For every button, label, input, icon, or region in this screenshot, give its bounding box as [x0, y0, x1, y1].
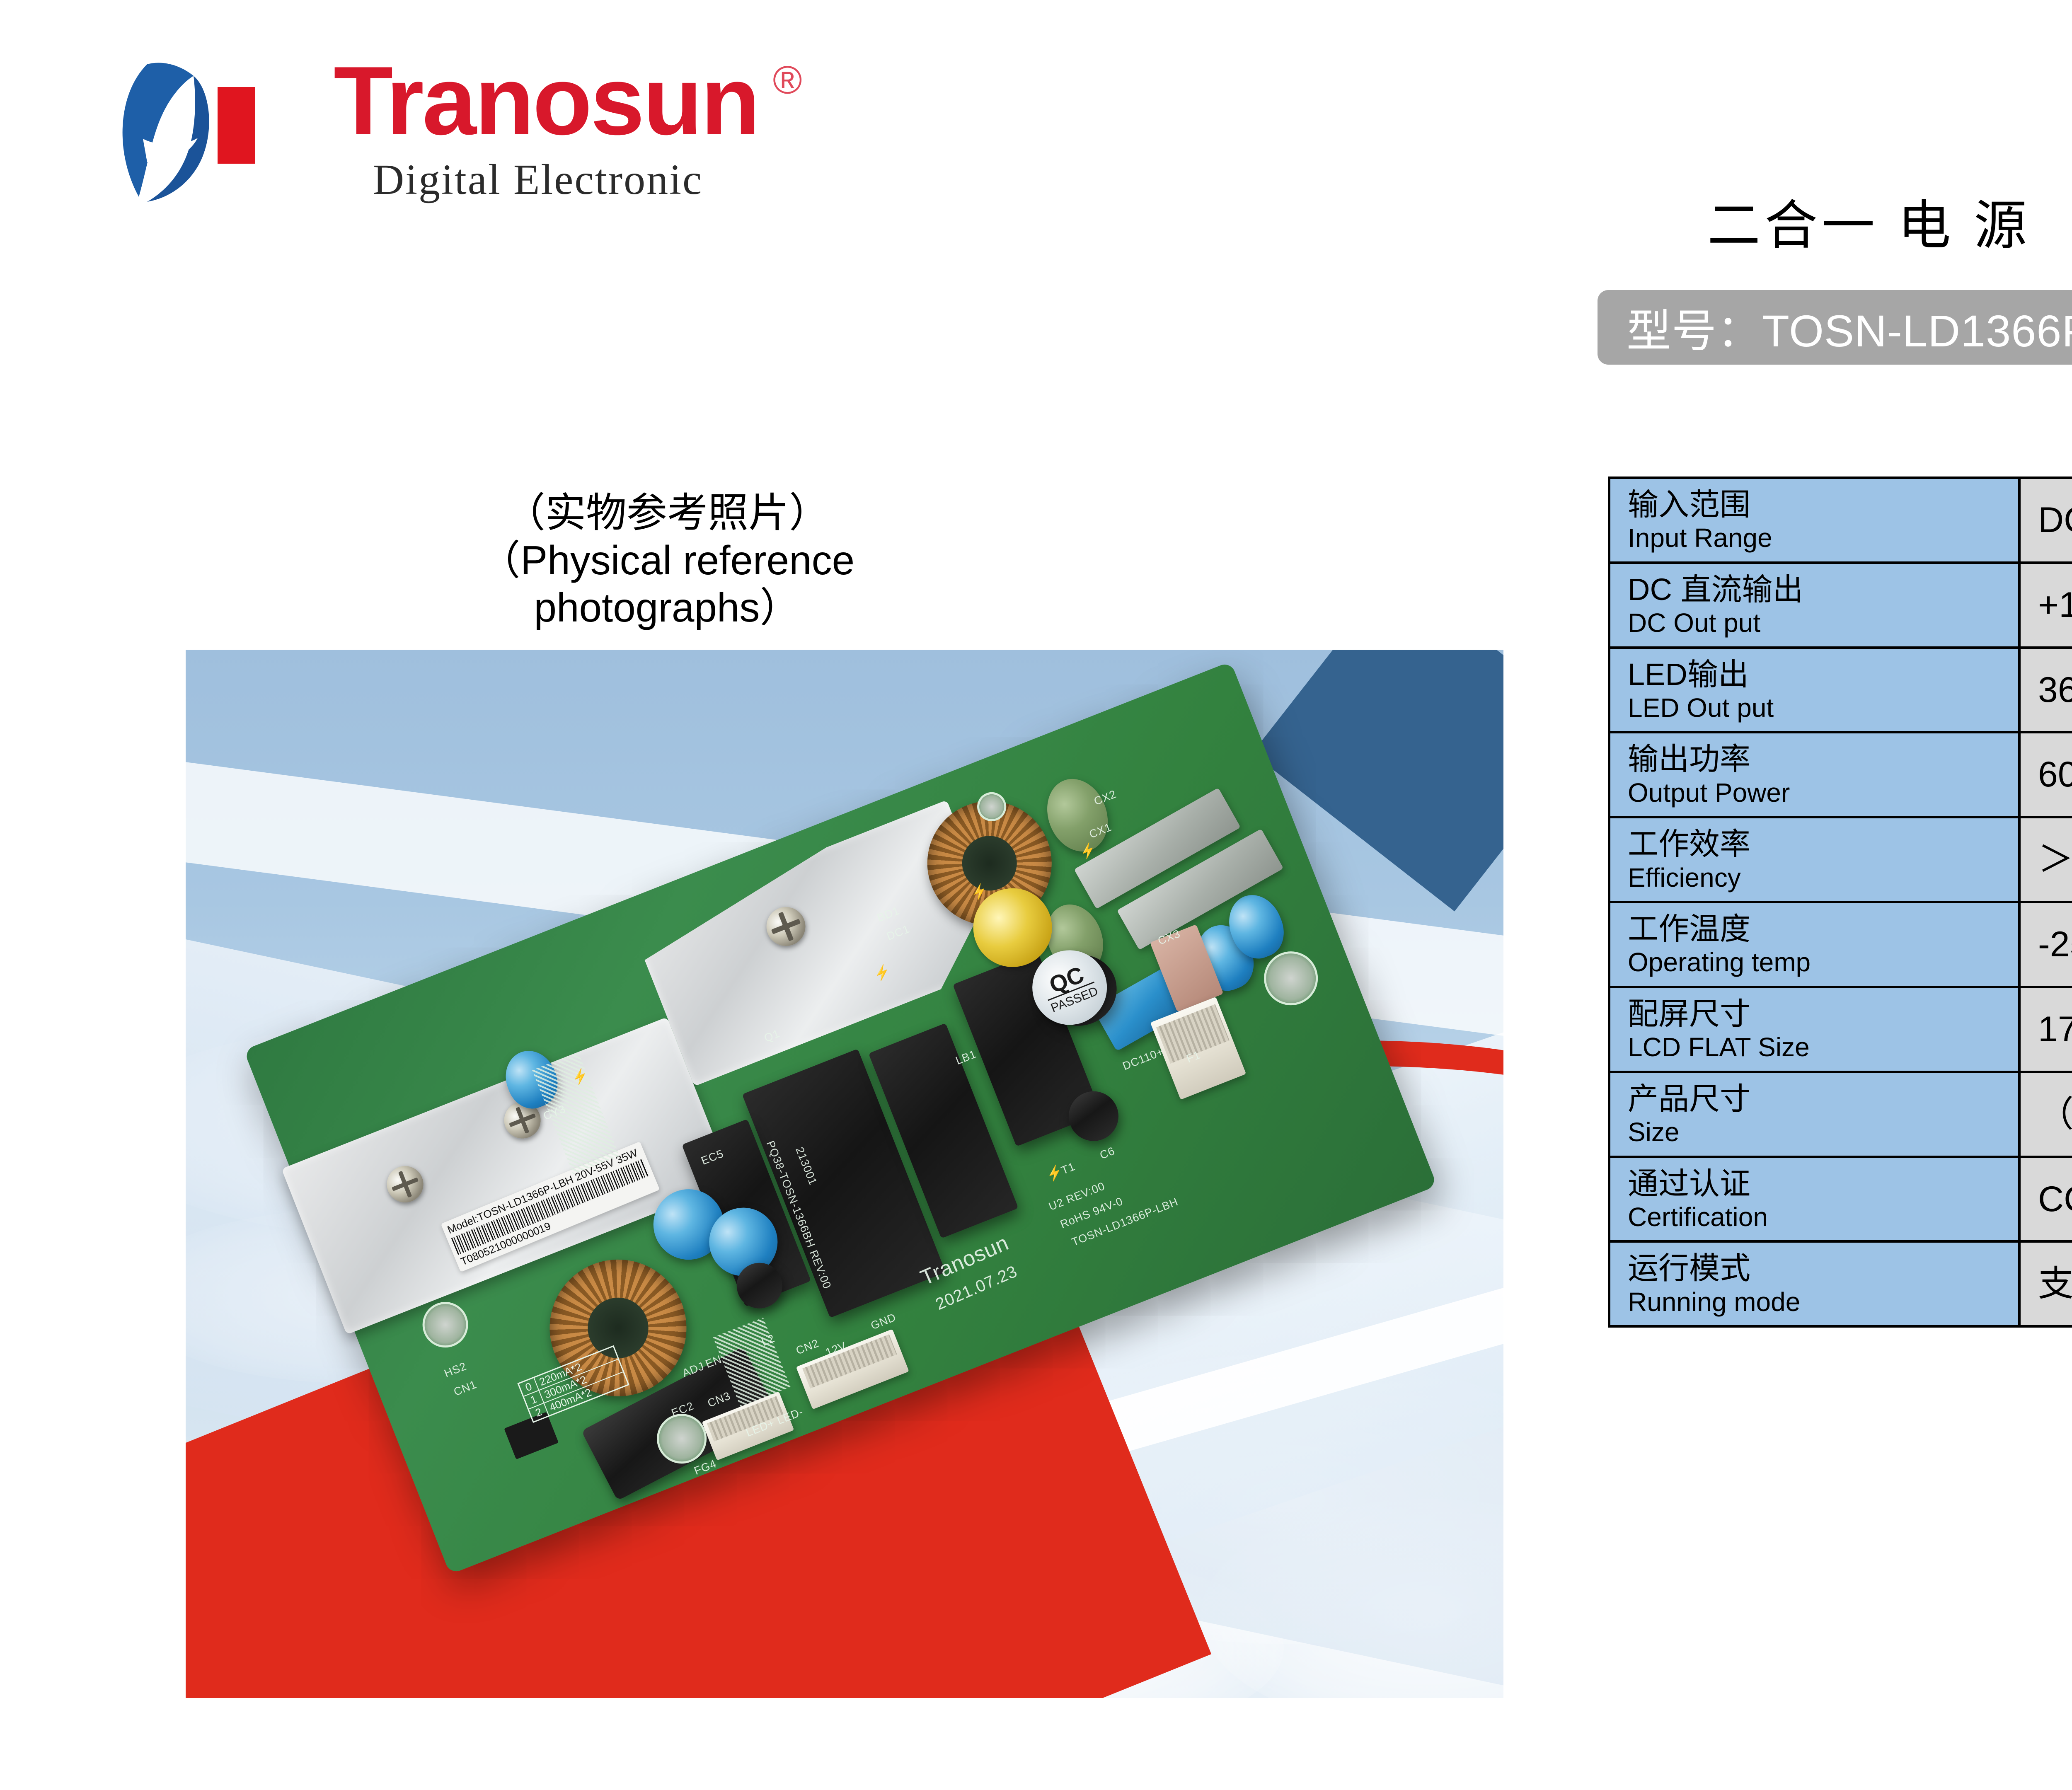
spec-label-en: Size: [1628, 1117, 2018, 1148]
product-photo: Model:TOSN-LD1366P-LBH 20V-55V 35W T0805…: [186, 650, 1503, 1698]
spec-label-cn: 运行模式: [1628, 1250, 2018, 1286]
model-badge: 型号：TOSN-LD1366P-LBH: [1598, 290, 2072, 365]
brand-wordmark: Tranosun ® Digital Electronic: [334, 52, 759, 204]
high-voltage-warning-icon: [1038, 1159, 1065, 1184]
table-row: DC 直流输出 DC Out put +12V/2.0A: [1609, 563, 2072, 648]
mounting-pad-hs2: [416, 1295, 475, 1355]
spec-label-cn: DC 直流输出: [1628, 571, 2018, 607]
spec-value-cell: DC 77V～150V: [2019, 478, 2072, 563]
spec-label-cn: 通过认证: [1628, 1166, 2018, 1202]
spec-label-cn: 输入范围: [1628, 486, 2018, 522]
spec-label-en: LCD FLAT Size: [1628, 1032, 2018, 1063]
spec-label-en: LED Out put: [1628, 692, 2018, 724]
transformer-code: 213001: [793, 1145, 819, 1187]
spec-value: 17~32 Inch: [2038, 1009, 2072, 1050]
spec-label-en: DC Out put: [1628, 607, 2018, 639]
table-row: 工作温度 Operating temp -25℃ ~+85℃: [1609, 902, 2072, 987]
spec-label-en: Running mode: [1628, 1287, 2018, 1318]
spec-value: -25℃ ~+85℃: [2038, 924, 2072, 965]
spec-label-en: Efficiency: [1628, 862, 2018, 894]
spec-value-cell: -25℃ ~+85℃: [2019, 902, 2072, 987]
spec-label-cn: 配屏尺寸: [1628, 996, 2018, 1032]
spec-value: +12V/2.0A: [2038, 585, 2072, 626]
spec-label-cell: 通过认证 Certification: [1609, 1157, 2019, 1242]
spec-value-cell: 17~32 Inch: [2019, 987, 2072, 1072]
spec-label-cell: LED输出 LED Out put: [1609, 648, 2019, 733]
brand-name: Tranosun: [334, 52, 759, 149]
spec-label-cell: 产品尺寸 Size: [1609, 1072, 2019, 1157]
spec-label-en: Operating temp: [1628, 947, 2018, 978]
swoosh-wing-logo-icon: [85, 44, 321, 209]
spec-value-cell: CCC、RoHS: [2019, 1157, 2072, 1242]
table-row: LED输出 LED Out put 36W；+20V~+55V ；220mA-4…: [1609, 648, 2072, 733]
silk-ref-lb1: LB1: [954, 1047, 978, 1067]
page-title-cn: 二合一 电 源: [1707, 182, 2031, 259]
spec-value-cell: +12V/2.0A: [2019, 563, 2072, 648]
table-row: 输出功率 Output Power 60W: [1609, 732, 2072, 817]
photo-caption-en-2: photographs）: [448, 584, 887, 631]
spec-value-cell: ＞85%: [2019, 817, 2072, 902]
spec-value: DC 77V～150V: [2038, 500, 2072, 541]
spec-label-cn: 产品尺寸: [1628, 1081, 2018, 1117]
spec-label-cn: 工作效率: [1628, 826, 2018, 862]
spec-label-cell: 运行模式 Running mode: [1609, 1241, 2019, 1326]
photo-caption-cn: （实物参考照片）: [448, 489, 887, 537]
registered-mark: ®: [773, 58, 802, 103]
cloud-shape: [1201, 1499, 1503, 1698]
spec-value: CCC、RoHS: [2038, 1179, 2072, 1220]
spec-label-en: Output Power: [1628, 777, 2018, 809]
spec-value: ＞85%: [2038, 839, 2072, 880]
table-row: 产品尺寸 Size （L）150*(W)70*(H)14mm: [1609, 1072, 2072, 1157]
silk-ref-c6: C6: [1098, 1144, 1117, 1162]
spec-label-cn: LED输出: [1628, 656, 2018, 692]
spec-value: （L）150*(W)70*(H)14mm: [2038, 1094, 2072, 1135]
spec-label-cn: 输出功率: [1628, 741, 2018, 777]
silk-ref-cn2: CN2: [794, 1337, 821, 1357]
spec-label-cell: 工作效率 Efficiency: [1609, 817, 2019, 902]
photo-caption-en-1: （Physical reference: [448, 537, 887, 584]
spec-label-en: Certification: [1628, 1202, 2018, 1233]
model-badge-label: 型号：TOSN-LD1366P-LBH: [1627, 295, 2072, 360]
table-row: 配屏尺寸 LCD FLAT Size 17~32 Inch: [1609, 987, 2072, 1072]
table-row: 通过认证 Certification CCC、RoHS: [1609, 1157, 2072, 1242]
spec-label-cell: 输入范围 Input Range: [1609, 478, 2019, 563]
specification-table: 输入范围 Input Range DC 77V～150V DC 直流输出 DC …: [1608, 477, 2072, 1328]
spec-value: 36W；+20V~+55V ；220mA-400mA: [2038, 670, 2072, 711]
spec-label-en: Input Range: [1628, 522, 2018, 554]
silk-ref-cn1: CN1: [452, 1378, 479, 1399]
table-row: 工作效率 Efficiency ＞85%: [1609, 817, 2072, 902]
spec-value-cell: 36W；+20V~+55V ；220mA-400mA: [2019, 648, 2072, 733]
spec-label-cell: DC 直流输出 DC Out put: [1609, 563, 2019, 648]
silk-ref-dc110: DC110+: [1121, 1045, 1166, 1073]
table-row: 运行模式 Running mode 支持7*24小时工作: [1609, 1241, 2072, 1326]
spec-label-cn: 工作温度: [1628, 911, 2018, 947]
silk-ref-gnd: GND: [869, 1311, 898, 1333]
table-row: 输入范围 Input Range DC 77V～150V: [1609, 478, 2072, 563]
brand-logo: Tranosun ® Digital Electronic: [85, 44, 1038, 222]
spec-value-cell: 60W: [2019, 732, 2072, 817]
spec-value: 支持7*24小时工作: [2038, 1263, 2072, 1304]
spec-label-cell: 配屏尺寸 LCD FLAT Size: [1609, 987, 2019, 1072]
spec-label-cell: 工作温度 Operating temp: [1609, 902, 2019, 987]
spec-value-cell: （L）150*(W)70*(H)14mm: [2019, 1072, 2072, 1157]
brand-tagline: Digital Electronic: [373, 155, 759, 204]
silk-ref-hs2: HS2: [443, 1360, 469, 1380]
spec-label-cell: 输出功率 Output Power: [1609, 732, 2019, 817]
photo-caption: （实物参考照片） （Physical reference photographs…: [448, 489, 887, 631]
spec-value-cell: 支持7*24小时工作: [2019, 1241, 2072, 1326]
spec-value: 60W: [2038, 754, 2072, 795]
pcb-part-silk: TOSN-LD1366P-LBH: [1070, 1195, 1180, 1249]
